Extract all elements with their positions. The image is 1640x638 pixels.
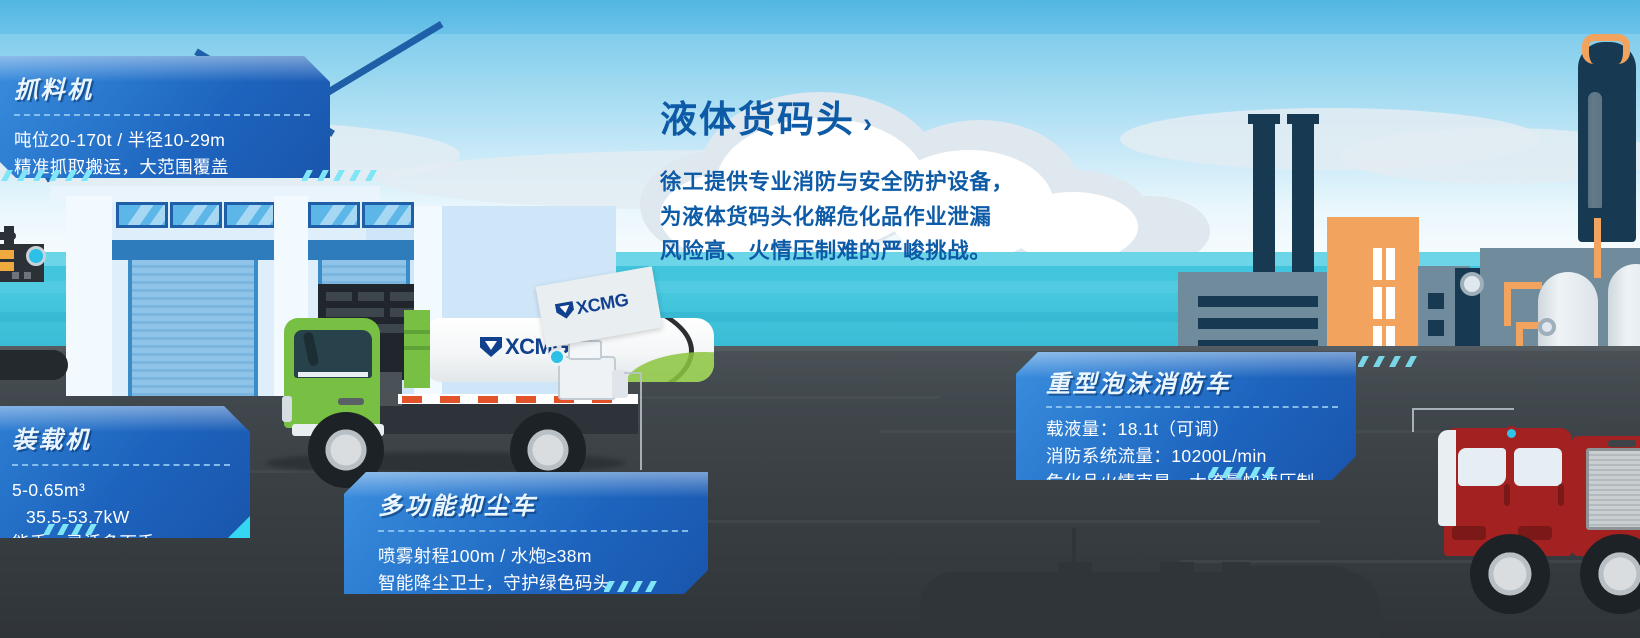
building-window bbox=[1428, 320, 1444, 336]
equipment-shutter bbox=[1586, 448, 1640, 530]
warehouse-pillar bbox=[66, 196, 112, 396]
valve-icon bbox=[1460, 272, 1484, 296]
tank-hatch bbox=[1160, 562, 1194, 576]
cab-trim bbox=[298, 372, 368, 377]
card-line: 5-0.65m³ bbox=[12, 477, 230, 504]
info-card-grab-crane[interactable]: 抓料机 吨位20-170t / 半径10-29m 精准抓取搬运，大范围覆盖 bbox=[0, 56, 330, 178]
cab-door-handle bbox=[1558, 484, 1564, 506]
crane-exhaust-cap bbox=[0, 232, 16, 240]
card-title: 重型泡沫消防车 bbox=[1046, 364, 1338, 399]
chevron-right-icon: › bbox=[863, 108, 874, 138]
column-ladder bbox=[1588, 92, 1602, 208]
headline-block: 液体货码头› 徐工提供专业消防与安全防护设备， 为液体货码头化解危化品作业泄漏 … bbox=[660, 100, 1090, 269]
smokestack-cap bbox=[1248, 114, 1280, 124]
crane-stripe bbox=[0, 250, 14, 259]
crane-track bbox=[0, 350, 68, 380]
interior-shelf bbox=[326, 308, 384, 317]
column-pipe bbox=[1582, 34, 1630, 64]
tank-hatch bbox=[1058, 562, 1092, 576]
spray-nozzle-icon bbox=[548, 348, 566, 366]
cab-window bbox=[1458, 448, 1506, 486]
corner-accent-icon bbox=[228, 516, 250, 538]
warehouse-window bbox=[224, 202, 276, 228]
cab-window bbox=[1514, 448, 1562, 486]
building-band bbox=[1198, 296, 1318, 307]
illustration-stage: XCMG XCMG bbox=[0, 0, 1640, 638]
roof-box bbox=[1600, 422, 1640, 436]
spray-unit bbox=[558, 356, 616, 400]
sky-top-strip bbox=[0, 0, 1640, 34]
door-lintel bbox=[306, 240, 422, 260]
roller-door bbox=[128, 260, 258, 396]
card-line: 载液量：18.1t（可调） bbox=[1046, 416, 1338, 443]
card-title: 多功能抑尘车 bbox=[378, 486, 688, 521]
interior-shelf bbox=[326, 292, 352, 301]
card-stripe-decoration bbox=[44, 524, 128, 535]
page-title: 液体货码头› bbox=[660, 100, 1090, 141]
tower-window bbox=[1373, 287, 1382, 319]
card-line: 吨位20-170t / 半径10-29m bbox=[14, 127, 310, 154]
ground-streak bbox=[700, 520, 1320, 523]
card-line: 消防系统流量：10200L/min bbox=[1046, 443, 1338, 470]
card-divider bbox=[1046, 406, 1338, 408]
headline-body-line: 风险高、火情压制难的严峻挑战。 bbox=[660, 234, 1090, 269]
connector-line bbox=[624, 372, 642, 470]
xcmg-mark-icon bbox=[480, 337, 502, 357]
warehouse-window bbox=[362, 202, 414, 228]
warehouse-window bbox=[116, 202, 168, 228]
info-card-dust-truck[interactable]: 多功能抑尘车 喷雾射程100m / 水炮≥38m 智能降尘卫士，守护绿色码头 bbox=[344, 472, 708, 594]
card-edge-stripes bbox=[0, 170, 120, 181]
valve-icon bbox=[1538, 318, 1556, 336]
cab-handle bbox=[338, 398, 364, 405]
warehouse-window bbox=[308, 202, 360, 228]
crane-stripe bbox=[0, 262, 14, 271]
card-line: 喷雾射程100m / 水炮≥38m bbox=[378, 543, 688, 570]
roof-rail bbox=[1608, 440, 1636, 447]
smokestack-cap bbox=[1287, 114, 1319, 124]
distillation-column bbox=[1578, 42, 1636, 242]
tank-mast bbox=[1072, 528, 1076, 564]
building-window bbox=[1428, 293, 1444, 309]
tower-window bbox=[1386, 248, 1395, 280]
silhouette-tank bbox=[920, 572, 1380, 638]
headline-body-line: 徐工提供专业消防与安全防护设备， bbox=[660, 165, 1090, 200]
cab-door-handle bbox=[1504, 484, 1510, 506]
card-stripe-decoration bbox=[1208, 467, 1308, 478]
headline-body-line: 为液体货码头化解危化品作业泄漏 bbox=[660, 200, 1090, 235]
door-lintel bbox=[112, 240, 274, 260]
warehouse-window bbox=[170, 202, 222, 228]
truck-chassis bbox=[366, 400, 638, 434]
xcmg-logo-sign: XCMG bbox=[554, 289, 630, 323]
building-band bbox=[1198, 318, 1318, 329]
cab-light bbox=[282, 396, 292, 422]
card-divider bbox=[378, 530, 688, 532]
safety-stripe bbox=[478, 396, 498, 403]
card-title: 抓料机 bbox=[14, 70, 310, 105]
info-card-loader[interactable]: 装载机 5-0.65m³ 35.5-53.7kW 能手，灵活多面手 bbox=[0, 406, 250, 538]
tower-window bbox=[1386, 287, 1395, 319]
truck-body-line bbox=[404, 330, 430, 334]
crane-cab-window bbox=[26, 246, 46, 266]
page-title-text: 液体货码头 bbox=[660, 99, 855, 140]
card-title: 装载机 bbox=[12, 420, 230, 455]
connector-line bbox=[1412, 408, 1514, 432]
fire-truck-wheel bbox=[1470, 534, 1550, 614]
card-divider bbox=[14, 114, 310, 116]
cab-front-panel bbox=[1438, 430, 1456, 526]
interior-shelf bbox=[390, 292, 416, 301]
info-card-foam-fire-truck[interactable]: 重型泡沫消防车 载液量：18.1t（可调） 消防系统流量：10200L/min … bbox=[1016, 352, 1356, 480]
interior-shelf bbox=[358, 292, 384, 301]
card-stripe-decoration bbox=[604, 581, 684, 592]
pipe-segment bbox=[1594, 218, 1601, 278]
crane-detail bbox=[12, 272, 19, 279]
safety-stripe bbox=[402, 396, 422, 403]
xcmg-wordmark: XCMG bbox=[575, 289, 630, 319]
tank-pipe bbox=[1232, 566, 1352, 580]
safety-stripe bbox=[516, 396, 536, 403]
xcmg-mark-icon bbox=[555, 301, 576, 320]
front-light bbox=[1452, 526, 1486, 540]
card-edge-stripes bbox=[1358, 356, 1450, 367]
safety-stripe bbox=[440, 396, 460, 403]
crane-detail bbox=[24, 272, 31, 279]
headline-body: 徐工提供专业消防与安全防护设备， 为液体货码头化解危化品作业泄漏 风险高、火情压… bbox=[660, 165, 1090, 269]
card-edge-stripes bbox=[300, 170, 400, 181]
tower-window bbox=[1373, 248, 1382, 280]
pipe-segment bbox=[1504, 282, 1542, 289]
card-divider bbox=[12, 464, 230, 466]
truck-body-line bbox=[404, 346, 430, 350]
